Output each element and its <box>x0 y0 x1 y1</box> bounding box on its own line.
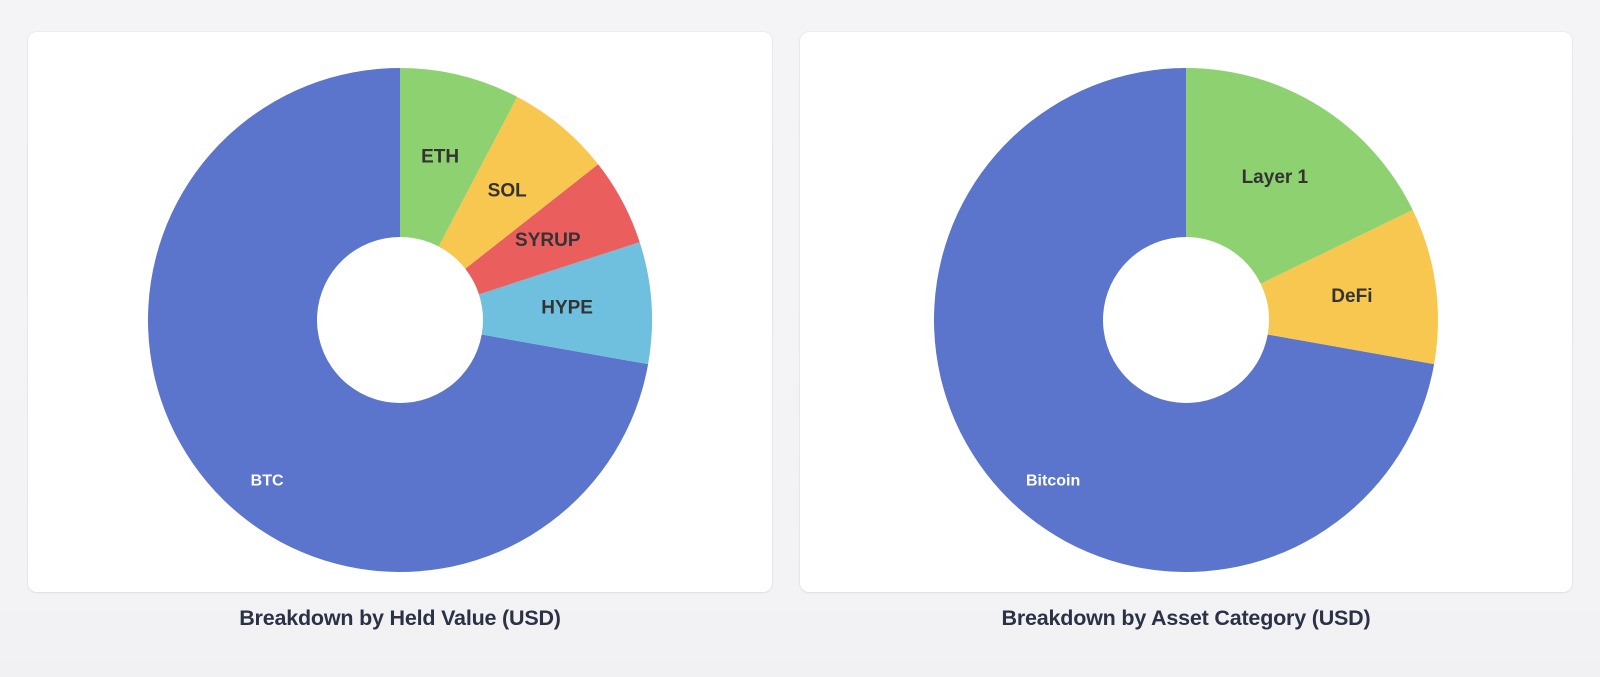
slice-label-hype: HYPE <box>541 297 593 318</box>
chart-card-held-value: BTCHYPESYRUPSOLETH <box>28 32 772 592</box>
slice-label-layer-1: Layer 1 <box>1242 167 1309 188</box>
donut-svg-held-value: BTCHYPESYRUPSOLETH <box>28 32 772 592</box>
slice-label-syrup: SYRUP <box>515 230 581 251</box>
slice-label-btc: BTC <box>251 473 284 490</box>
chart-title-asset-category: Breakdown by Asset Category (USD) <box>800 606 1572 631</box>
chart-panel-held-value: BTCHYPESYRUPSOLETH Breakdown by Held Val… <box>0 0 800 677</box>
donut-svg-asset-category: BitcoinDeFiLayer 1 <box>800 32 1572 592</box>
chart-card-asset-category: BitcoinDeFiLayer 1 <box>800 32 1572 592</box>
donut-chart-held-value[interactable]: BTCHYPESYRUPSOLETH <box>28 32 772 592</box>
chart-title-held-value: Breakdown by Held Value (USD) <box>28 606 772 631</box>
chart-panel-asset-category: BitcoinDeFiLayer 1 Breakdown by Asset Ca… <box>800 0 1600 677</box>
slice-label-sol: SOL <box>488 180 527 201</box>
slice-label-defi: DeFi <box>1331 286 1372 307</box>
slice-label-bitcoin: Bitcoin <box>1026 473 1080 490</box>
dashboard-root: BTCHYPESYRUPSOLETH Breakdown by Held Val… <box>0 0 1600 677</box>
donut-chart-asset-category[interactable]: BitcoinDeFiLayer 1 <box>800 32 1572 592</box>
slice-label-eth: ETH <box>421 146 459 167</box>
